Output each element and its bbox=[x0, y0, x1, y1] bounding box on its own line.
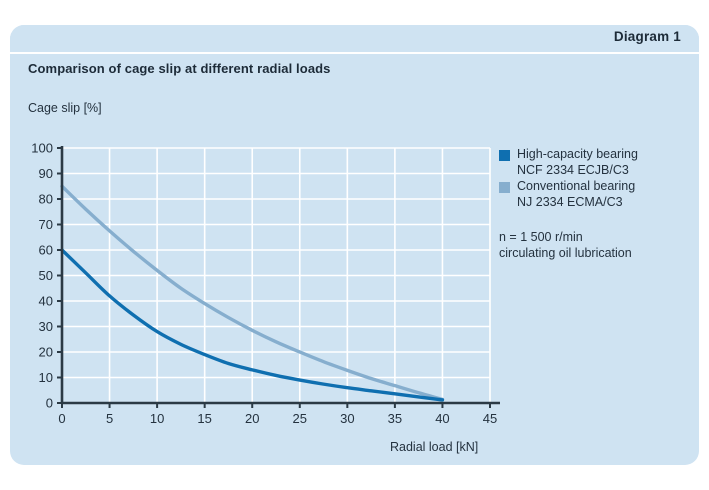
svg-text:20: 20 bbox=[39, 345, 53, 360]
svg-text:30: 30 bbox=[39, 319, 53, 334]
legend-item-high-capacity: High-capacity bearing NCF 2334 ECJB/C3 bbox=[499, 147, 689, 178]
svg-text:30: 30 bbox=[340, 411, 354, 426]
axis-tick-labels: 0102030405060708090100051015202530354045 bbox=[31, 141, 497, 427]
svg-text:0: 0 bbox=[58, 411, 65, 426]
svg-text:25: 25 bbox=[293, 411, 307, 426]
legend-item-label: High-capacity bearing NCF 2334 ECJB/C3 bbox=[517, 147, 638, 178]
svg-text:45: 45 bbox=[483, 411, 497, 426]
svg-text:80: 80 bbox=[39, 192, 53, 207]
svg-text:60: 60 bbox=[39, 243, 53, 258]
svg-text:0: 0 bbox=[46, 396, 53, 411]
svg-text:90: 90 bbox=[39, 166, 53, 181]
svg-text:5: 5 bbox=[106, 411, 113, 426]
svg-text:70: 70 bbox=[39, 217, 53, 232]
legend-note: n = 1 500 r/min circulating oil lubricat… bbox=[499, 230, 689, 261]
svg-text:20: 20 bbox=[245, 411, 259, 426]
svg-text:35: 35 bbox=[388, 411, 402, 426]
svg-text:50: 50 bbox=[39, 268, 53, 283]
legend-swatch-icon bbox=[499, 150, 510, 161]
gridlines bbox=[62, 148, 490, 403]
legend-swatch-icon bbox=[499, 182, 510, 193]
axes bbox=[57, 146, 500, 408]
svg-text:10: 10 bbox=[150, 411, 164, 426]
svg-text:40: 40 bbox=[435, 411, 449, 426]
svg-text:100: 100 bbox=[31, 141, 53, 156]
legend-item-label: Conventional bearing NJ 2334 ECMA/C3 bbox=[517, 179, 635, 210]
diagram-panel: Diagram 1 Comparison of cage slip at dif… bbox=[10, 25, 699, 465]
chart-legend: High-capacity bearing NCF 2334 ECJB/C3 C… bbox=[499, 147, 689, 261]
svg-text:40: 40 bbox=[39, 294, 53, 309]
svg-text:10: 10 bbox=[39, 370, 53, 385]
svg-text:15: 15 bbox=[197, 411, 211, 426]
legend-item-conventional: Conventional bearing NJ 2334 ECMA/C3 bbox=[499, 179, 689, 210]
